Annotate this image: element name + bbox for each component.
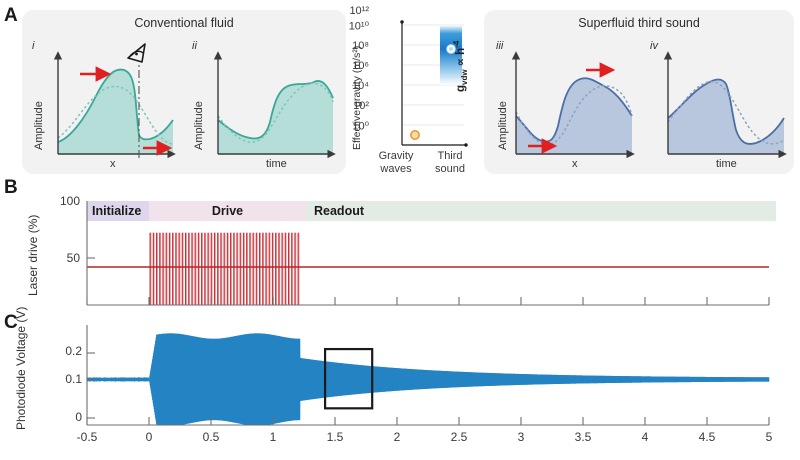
panel-c-ylabel: Photodiode Voltage (V): [14, 310, 29, 430]
gravity-ytick-12: 10¹²: [349, 5, 369, 17]
gravity-ytick-0: 10⁰: [352, 120, 369, 133]
panel-c-xtick-3: 3: [501, 430, 541, 444]
panel-c-xtick-1: 1: [253, 430, 293, 444]
panel-c-xtick--0.5: -0.5: [67, 430, 107, 444]
gravity-cat-line2: waves: [368, 163, 424, 176]
eye-icon: [128, 44, 145, 62]
panel-c-xtick-5: 5: [749, 430, 789, 444]
panel-a-superfluid-title: Superfluid third sound: [484, 16, 794, 30]
gravity-ytick-10: 10¹⁰: [349, 20, 369, 33]
panel-c-ytick-0: 0: [46, 410, 82, 424]
subpanel-i-plot: [40, 42, 176, 162]
gravity-category-third-sound: Third sound: [424, 150, 476, 176]
panel-c-xtick-2.5: 2.5: [439, 430, 479, 444]
panel-a-conventional-title: Conventional fluid: [22, 16, 346, 30]
subpanel-ii-plot: [200, 42, 336, 162]
panel-c-xtick-0: 0: [129, 430, 169, 444]
gravity-annotation-sub: vdw: [460, 69, 469, 85]
gravity-cat-line1: Gravity: [368, 150, 424, 163]
gravity-cat2-line2: sound: [424, 163, 476, 176]
panel-label-b: B: [4, 178, 18, 197]
panel-c-xtick-1.5: 1.5: [315, 430, 355, 444]
panel-label-a: A: [4, 6, 18, 25]
panel-c-xtick-2: 2: [377, 430, 417, 444]
gravity-cat2-line1: Third: [424, 150, 476, 163]
subpanel-tag-iii: iii: [496, 40, 503, 52]
gravity-category-gravity-waves: Gravity waves: [368, 150, 424, 176]
panel-b-ylabel: Laser drive (%): [26, 215, 40, 296]
gravity-ytick-2: 10²: [353, 100, 369, 112]
subpanel-tag-i: i: [32, 40, 34, 52]
gravity-annotation-rest: ∝ h: [455, 48, 467, 70]
panel-c-ytick-0.2: 0.2: [46, 344, 82, 358]
panel-b-plot: [87, 201, 769, 305]
panel-b-ytick-100: 100: [42, 194, 80, 208]
gravity-ytick-8: 10⁸: [352, 40, 369, 52]
gravity-annotation-g: g: [455, 85, 467, 92]
gravity-ytick-4: 10⁴: [352, 80, 369, 92]
panel-c-xtick-3.5: 3.5: [563, 430, 603, 444]
gravity-annotation: gvdw ∝ h-4: [452, 41, 469, 92]
panel-c-plot: [87, 325, 769, 425]
panel-c-xtick-4: 4: [625, 430, 665, 444]
subpanel-iii-plot: [504, 42, 636, 162]
panel-c-ylabel-text: Photodiode Voltage (V): [14, 307, 28, 430]
panel-c-xtick-4.5: 4.5: [687, 430, 727, 444]
panel-c-xtick-0.5: 0.5: [191, 430, 231, 444]
panel-c-xtick-labels: -0.500.511.522.533.544.55: [87, 430, 769, 450]
gravity-annotation-sup: -4: [452, 41, 461, 48]
panel-b-ytick-50: 50: [42, 251, 80, 265]
subpanel-tag-ii: ii: [192, 40, 197, 52]
gravity-ytick-6: 10⁶: [352, 60, 369, 72]
subpanel-iv-plot: [656, 42, 788, 162]
panel-c-ytick-0.1: 0.1: [46, 372, 82, 386]
